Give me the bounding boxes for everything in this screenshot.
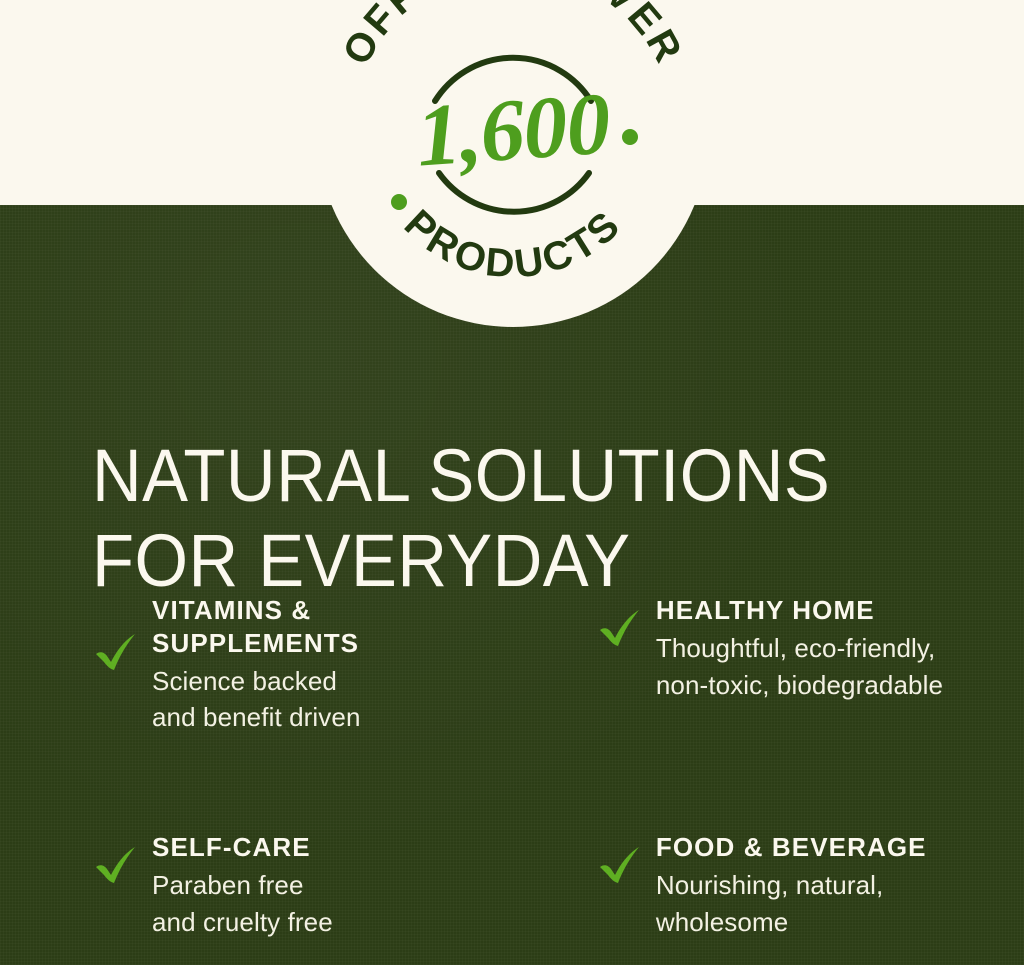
feature-row-bottom: SELF-CARE Paraben free and cruelty free … xyxy=(92,829,992,941)
page-title: NATURAL SOLUTIONS FOR EVERYDAY xyxy=(92,433,910,605)
checkmark-icon xyxy=(596,604,644,652)
feature-description: Thoughtful, eco-friendly, non-toxic, bio… xyxy=(656,630,943,704)
badge-top-text: OFFERING OVER xyxy=(335,0,692,72)
feature-text-block: SELF-CARE Paraben free and cruelty free xyxy=(152,829,333,941)
feature-vitamins-supplements: VITAMINS & SUPPLEMENTS Science backed an… xyxy=(92,592,542,736)
checkmark-icon xyxy=(596,841,644,889)
feature-food-beverage: FOOD & BEVERAGE Nourishing, natural, who… xyxy=(542,829,992,941)
feature-description: Paraben free and cruelty free xyxy=(152,867,333,941)
feature-title: SELF-CARE xyxy=(152,831,333,864)
offering-badge: OFFERING OVER PRODUCTS 1,600 xyxy=(317,0,709,327)
headline-line-1: NATURAL SOLUTIONS xyxy=(92,433,910,519)
badge-dot-left-icon xyxy=(391,194,407,210)
feature-self-care: SELF-CARE Paraben free and cruelty free xyxy=(92,829,542,941)
feature-title: VITAMINS & SUPPLEMENTS xyxy=(152,594,361,660)
checkmark-icon xyxy=(92,628,140,676)
feature-text-block: HEALTHY HOME Thoughtful, eco-friendly, n… xyxy=(656,592,943,704)
feature-text-block: FOOD & BEVERAGE Nourishing, natural, who… xyxy=(656,829,927,941)
feature-description: Science backed and benefit driven xyxy=(152,663,361,737)
feature-healthy-home: HEALTHY HOME Thoughtful, eco-friendly, n… xyxy=(542,592,992,736)
feature-title: HEALTHY HOME xyxy=(656,594,943,627)
feature-title: FOOD & BEVERAGE xyxy=(656,831,927,864)
checkmark-icon xyxy=(92,841,140,889)
feature-text-block: VITAMINS & SUPPLEMENTS Science backed an… xyxy=(152,592,361,736)
feature-row-top: VITAMINS & SUPPLEMENTS Science backed an… xyxy=(92,592,992,736)
promo-poster: OFFERING OVER PRODUCTS 1,600 NATURAL SOL… xyxy=(0,0,1024,965)
feature-list: VITAMINS & SUPPLEMENTS Science backed an… xyxy=(92,592,992,941)
feature-description: Nourishing, natural, wholesome xyxy=(656,867,927,941)
